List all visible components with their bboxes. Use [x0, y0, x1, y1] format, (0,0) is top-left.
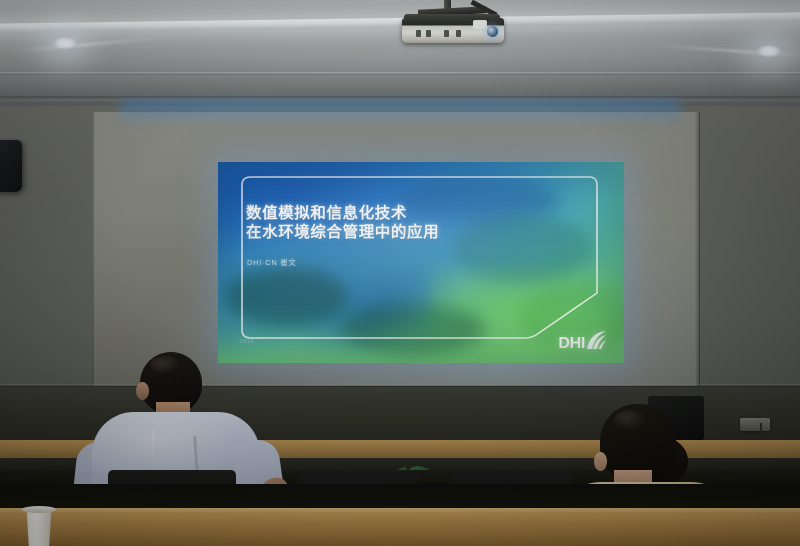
projector-light-spill: [120, 100, 680, 126]
conference-room-photo: 数值模拟和信息化技术 在水环境综合管理中的应用 DHI·CN 崔文 2018 D…: [0, 0, 800, 546]
desk-front-shadow: [0, 484, 800, 510]
projector-vent: [416, 30, 421, 37]
desk-row-front: [0, 512, 800, 546]
outlet-cord: [760, 423, 769, 439]
projector-focus-knob: [473, 20, 487, 29]
woman-ear: [594, 452, 607, 471]
projector-vent: [426, 30, 431, 37]
wainscot-trim: [0, 384, 800, 387]
projected-slide: 数值模拟和信息化技术 在水环境综合管理中的应用 DHI·CN 崔文 2018 D…: [218, 162, 624, 363]
paper-cup: [24, 508, 54, 546]
wall-panel-edge: [694, 112, 700, 386]
slide-vignette: [218, 162, 624, 363]
projector-vent: [444, 30, 449, 37]
paper-cup-rim: [22, 506, 56, 513]
wall-panel-edge: [92, 112, 96, 386]
projector-lens: [487, 26, 498, 37]
ceiling-seam: [0, 72, 800, 75]
man-hair-highlight: [150, 356, 180, 374]
wall-speaker-left: [0, 140, 22, 192]
man-ear: [136, 382, 149, 400]
woman-hair-highlight: [614, 410, 646, 430]
projector-vent: [456, 30, 461, 37]
